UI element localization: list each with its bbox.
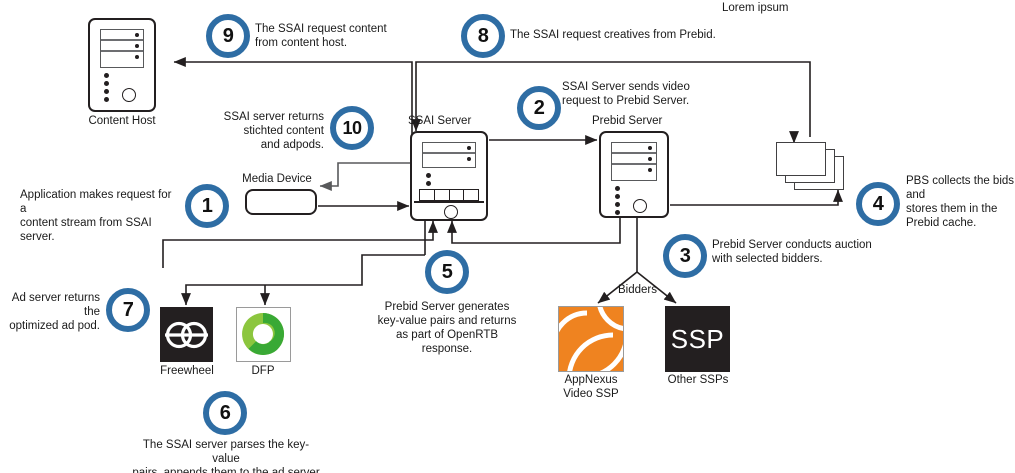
edge-label-bidders: Bidders xyxy=(618,284,657,296)
step-badge-4: 4 xyxy=(856,182,900,226)
node-media-device xyxy=(245,189,317,215)
diagram-canvas: Lorem ipsum Content Host Media Device SS… xyxy=(0,0,1015,473)
freewheel-glyph xyxy=(160,307,213,362)
drive-bay xyxy=(612,154,656,165)
cache-sheet-front xyxy=(776,142,826,176)
node-ssai-server xyxy=(410,131,488,221)
step-caption-6: The SSAI server parses the key-value pai… xyxy=(130,438,322,473)
node-label-dfp: DFP xyxy=(233,364,293,378)
ssai-status-dots xyxy=(426,173,431,189)
step-caption-4: PBS collects the bids and stores them in… xyxy=(906,174,1015,230)
step-badge-9: 9 xyxy=(206,14,250,58)
content-host-status-dots xyxy=(104,73,109,105)
step-badge-8: 8 xyxy=(461,14,505,58)
ssp-tile-text: SSP xyxy=(671,324,725,355)
logo-freewheel xyxy=(160,307,213,362)
content-host-drive-bays xyxy=(100,29,144,68)
drive-bay xyxy=(101,30,143,41)
drive-bay xyxy=(423,154,475,165)
step-caption-5: Prebid Server generates key-value pairs … xyxy=(372,300,522,356)
node-label-prebid-server: Prebid Server xyxy=(592,114,686,128)
drive-bay xyxy=(423,143,475,154)
prebid-status-dots xyxy=(615,186,620,218)
step-badge-1: 1 xyxy=(185,184,229,228)
step-caption-8: The SSAI request creatives from Prebid. xyxy=(510,28,800,42)
ssai-drive-bays xyxy=(422,142,476,168)
appnexus-glyph xyxy=(559,307,623,371)
drive-bay xyxy=(612,143,656,154)
drive-bay xyxy=(101,41,143,52)
step-caption-2: SSAI Server sends video request to Prebi… xyxy=(562,80,742,108)
logo-appnexus xyxy=(558,306,624,372)
drive-bay xyxy=(101,52,143,63)
page-title: Lorem ipsum xyxy=(722,2,788,14)
step-badge-3: 3 xyxy=(663,234,707,278)
step-caption-10: SSAI server returns stichted content and… xyxy=(190,110,324,152)
step-caption-1: Application makes request for a content … xyxy=(20,188,180,244)
content-host-power-icon xyxy=(122,88,136,102)
ssai-slot-divider xyxy=(414,201,484,203)
step-badge-7: 7 xyxy=(106,288,150,332)
node-prebid-server xyxy=(599,131,669,218)
node-label-appnexus: AppNexus Video SSP xyxy=(546,373,636,401)
ssai-expansion-slots xyxy=(419,189,479,201)
node-prebid-cache xyxy=(776,142,850,192)
ssai-power-icon xyxy=(444,205,458,219)
node-label-media-device: Media Device xyxy=(222,172,332,186)
step-caption-3: Prebid Server conducts auction with sele… xyxy=(712,238,912,266)
dfp-glyph xyxy=(237,308,290,361)
node-label-other-ssps: Other SSPs xyxy=(658,373,738,387)
node-label-freewheel: Freewheel xyxy=(147,364,227,378)
node-label-ssai-server: SSAI Server xyxy=(408,114,498,128)
step-caption-9: The SSAI request content from content ho… xyxy=(255,22,455,50)
prebid-drive-bays xyxy=(611,142,657,181)
drive-bay xyxy=(612,165,656,176)
step-badge-10: 10 xyxy=(330,106,374,150)
prebid-power-icon xyxy=(633,199,647,213)
logo-other-ssps: SSP xyxy=(665,306,730,372)
logo-dfp xyxy=(236,307,291,362)
step-badge-5: 5 xyxy=(425,250,469,294)
step-badge-6: 6 xyxy=(203,391,247,435)
step-badge-2: 2 xyxy=(517,86,561,130)
node-content-host xyxy=(88,18,156,112)
step-caption-7: Ad server returns the optimized ad pod. xyxy=(0,291,100,333)
node-label-content-host: Content Host xyxy=(72,114,172,128)
